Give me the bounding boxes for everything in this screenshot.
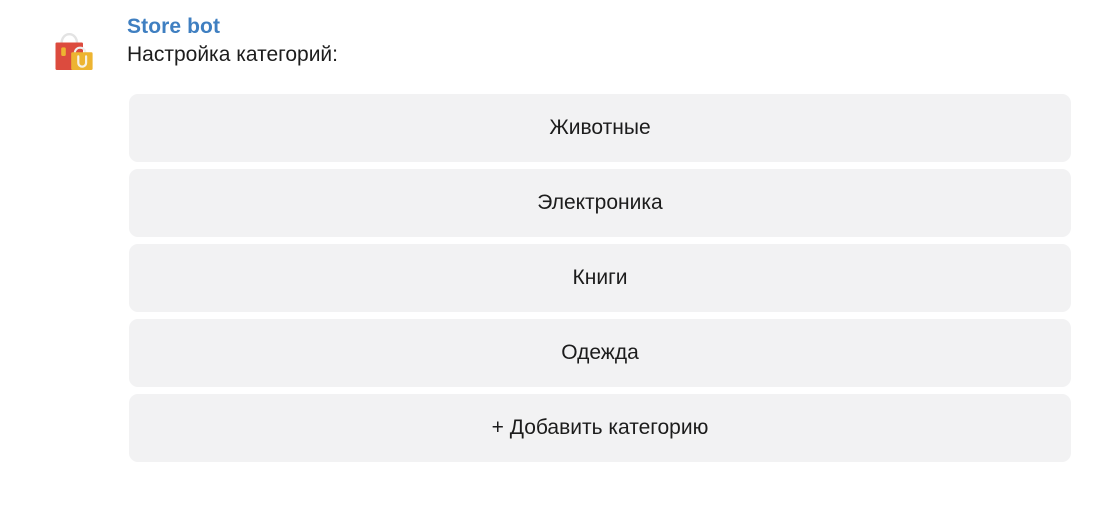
category-button-label: Электроника <box>537 191 662 215</box>
category-button-books[interactable]: Книги <box>129 244 1071 312</box>
category-button-label: Книги <box>573 266 628 290</box>
sender-name[interactable]: Store bot <box>127 14 1072 40</box>
category-button-label: Животные <box>549 116 650 140</box>
inline-keyboard: Животные Электроника Книги Одежда + Доба… <box>129 94 1071 462</box>
category-button-electronics[interactable]: Электроника <box>129 169 1071 237</box>
shopping-bags-icon <box>50 31 98 75</box>
message-body: Store bot Настройка категорий: <box>127 14 1072 68</box>
category-button-label: Одежда <box>561 341 639 365</box>
add-category-button-label: + Добавить категорию <box>492 416 709 440</box>
category-button-animals[interactable]: Животные <box>129 94 1071 162</box>
message-text: Настройка категорий: <box>127 41 1072 68</box>
add-category-button[interactable]: + Добавить категорию <box>129 394 1071 462</box>
category-button-clothing[interactable]: Одежда <box>129 319 1071 387</box>
